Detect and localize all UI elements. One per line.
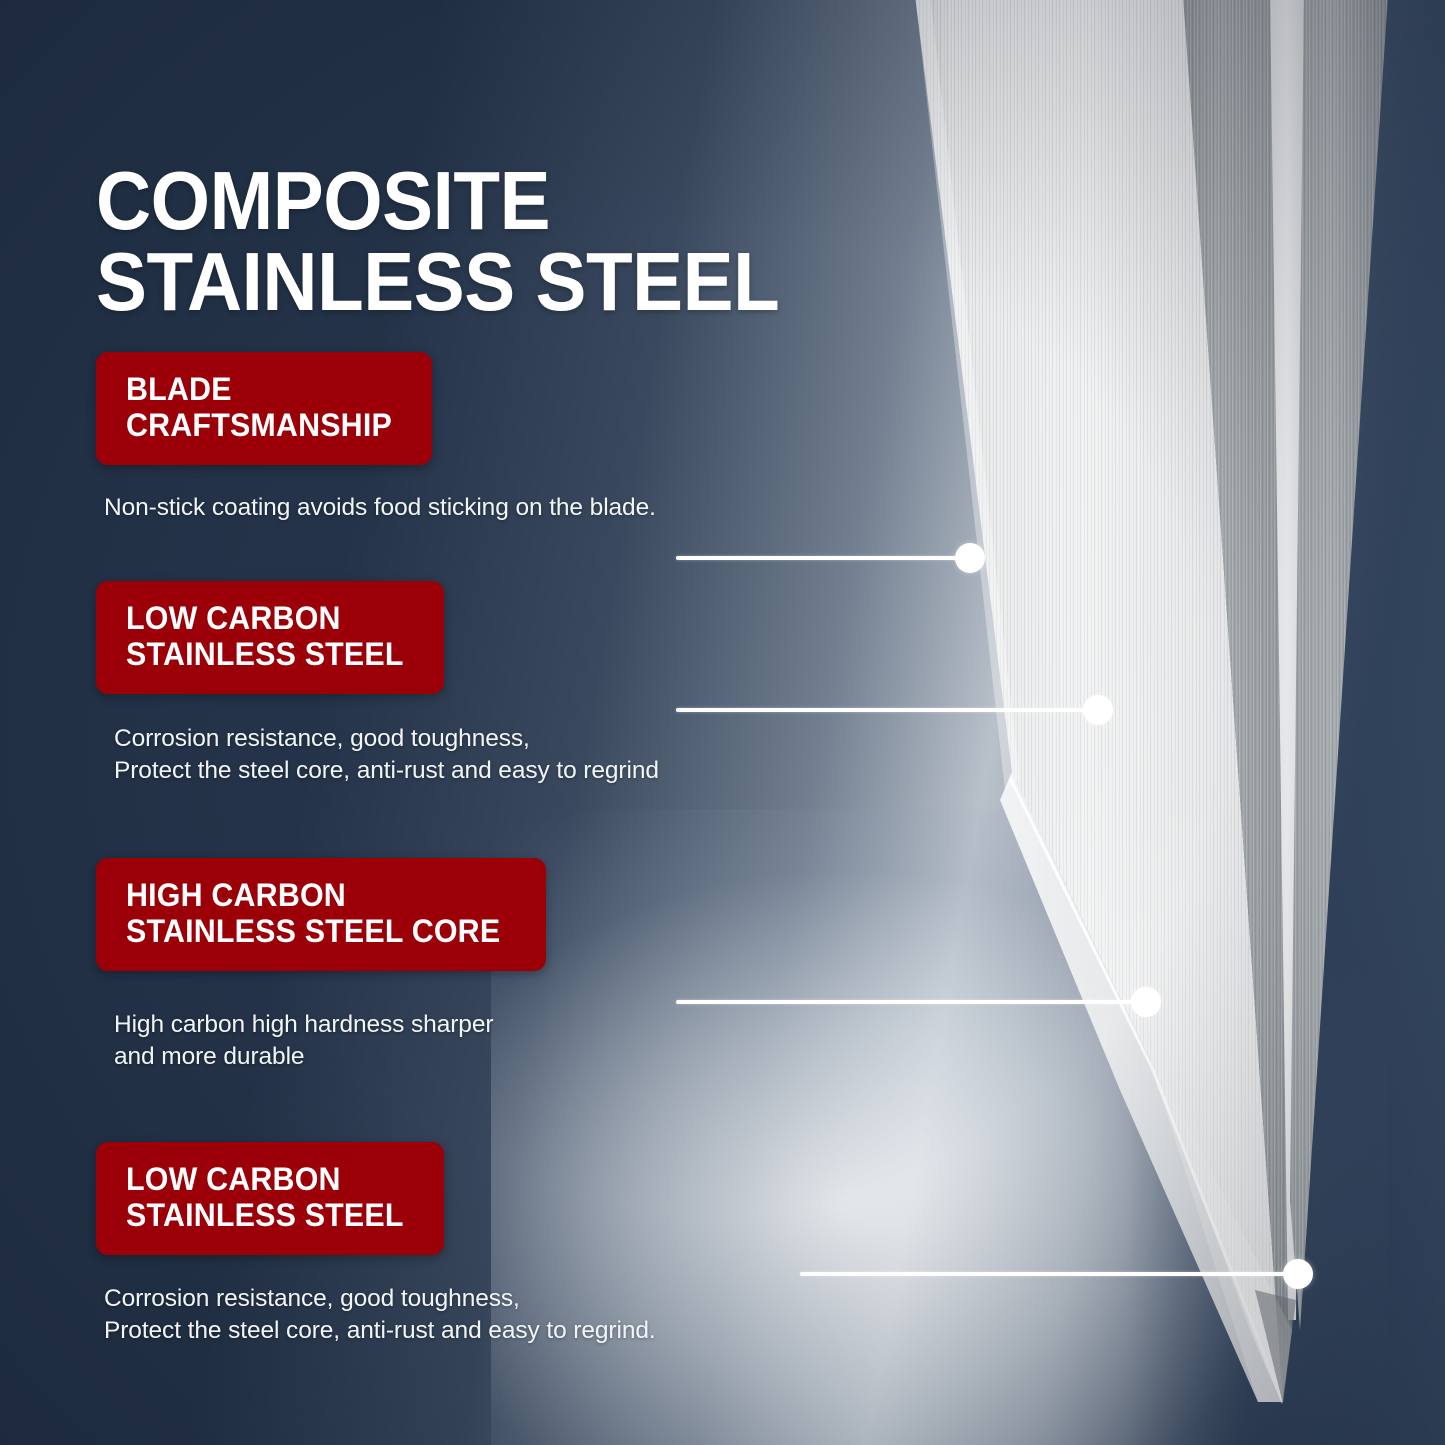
page-title-line-1: COMPOSITE (96, 160, 779, 241)
feature-badge-low-carbon-upper[interactable]: LOW CARBON STAINLESS STEEL (96, 581, 444, 694)
callout-line-4 (800, 1272, 1310, 1276)
feature-badge-low-carbon-lower[interactable]: LOW CARBON STAINLESS STEEL (96, 1142, 444, 1255)
badge-label-line-2: CRAFTSMANSHIP (126, 408, 392, 444)
callout-line-2-endpoint (1083, 695, 1113, 725)
feature-description-low-carbon-lower: Corrosion resistance, good toughness, Pr… (104, 1283, 656, 1348)
callout-line-1-bar (676, 556, 982, 560)
callout-line-3-endpoint (1131, 987, 1161, 1017)
page-title: COMPOSITE STAINLESS STEEL (96, 160, 779, 323)
badge-label-line-1: LOW CARBON (126, 601, 404, 637)
badge-label-line-2: STAINLESS STEEL (126, 637, 404, 673)
callout-line-1 (676, 556, 982, 560)
feature-description-blade-craftsmanship: Non-stick coating avoids food sticking o… (104, 492, 656, 525)
callout-line-4-endpoint (1283, 1259, 1313, 1289)
feature-low-carbon-lower: LOW CARBON STAINLESS STEEL Corrosion res… (96, 1142, 656, 1348)
callout-line-3-bar (676, 1000, 1158, 1004)
callout-line-2-bar (676, 708, 1110, 712)
callout-line-4-bar (800, 1272, 1310, 1276)
badge-label-line-2: STAINLESS STEEL CORE (126, 914, 500, 950)
badge-label-line-1: BLADE (126, 372, 392, 408)
feature-low-carbon-upper: LOW CARBON STAINLESS STEEL Corrosion res… (96, 581, 659, 788)
badge-label-line-1: LOW CARBON (126, 1162, 404, 1198)
infographic-canvas: COMPOSITE STAINLESS STEEL BLADE CRAFTSMA… (0, 0, 1445, 1445)
content-column: COMPOSITE STAINLESS STEEL BLADE CRAFTSMA… (0, 0, 720, 1445)
feature-blade-craftsmanship: BLADE CRAFTSMANSHIP Non-stick coating av… (96, 352, 656, 524)
feature-high-carbon-core: HIGH CARBON STAINLESS STEEL CORE High ca… (96, 858, 546, 1074)
callout-line-3 (676, 1000, 1158, 1004)
badge-label-line-1: HIGH CARBON (126, 878, 500, 914)
callout-line-2 (676, 708, 1110, 712)
callout-line-1-endpoint (955, 543, 985, 573)
feature-badge-high-carbon-core[interactable]: HIGH CARBON STAINLESS STEEL CORE (96, 858, 546, 971)
feature-badge-blade-craftsmanship[interactable]: BLADE CRAFTSMANSHIP (96, 352, 432, 465)
page-title-line-2: STAINLESS STEEL (96, 241, 779, 322)
badge-label-line-2: STAINLESS STEEL (126, 1198, 404, 1234)
feature-description-high-carbon-core: High carbon high hardness sharper and mo… (114, 1009, 546, 1074)
feature-description-low-carbon-upper: Corrosion resistance, good toughness, Pr… (114, 723, 659, 788)
